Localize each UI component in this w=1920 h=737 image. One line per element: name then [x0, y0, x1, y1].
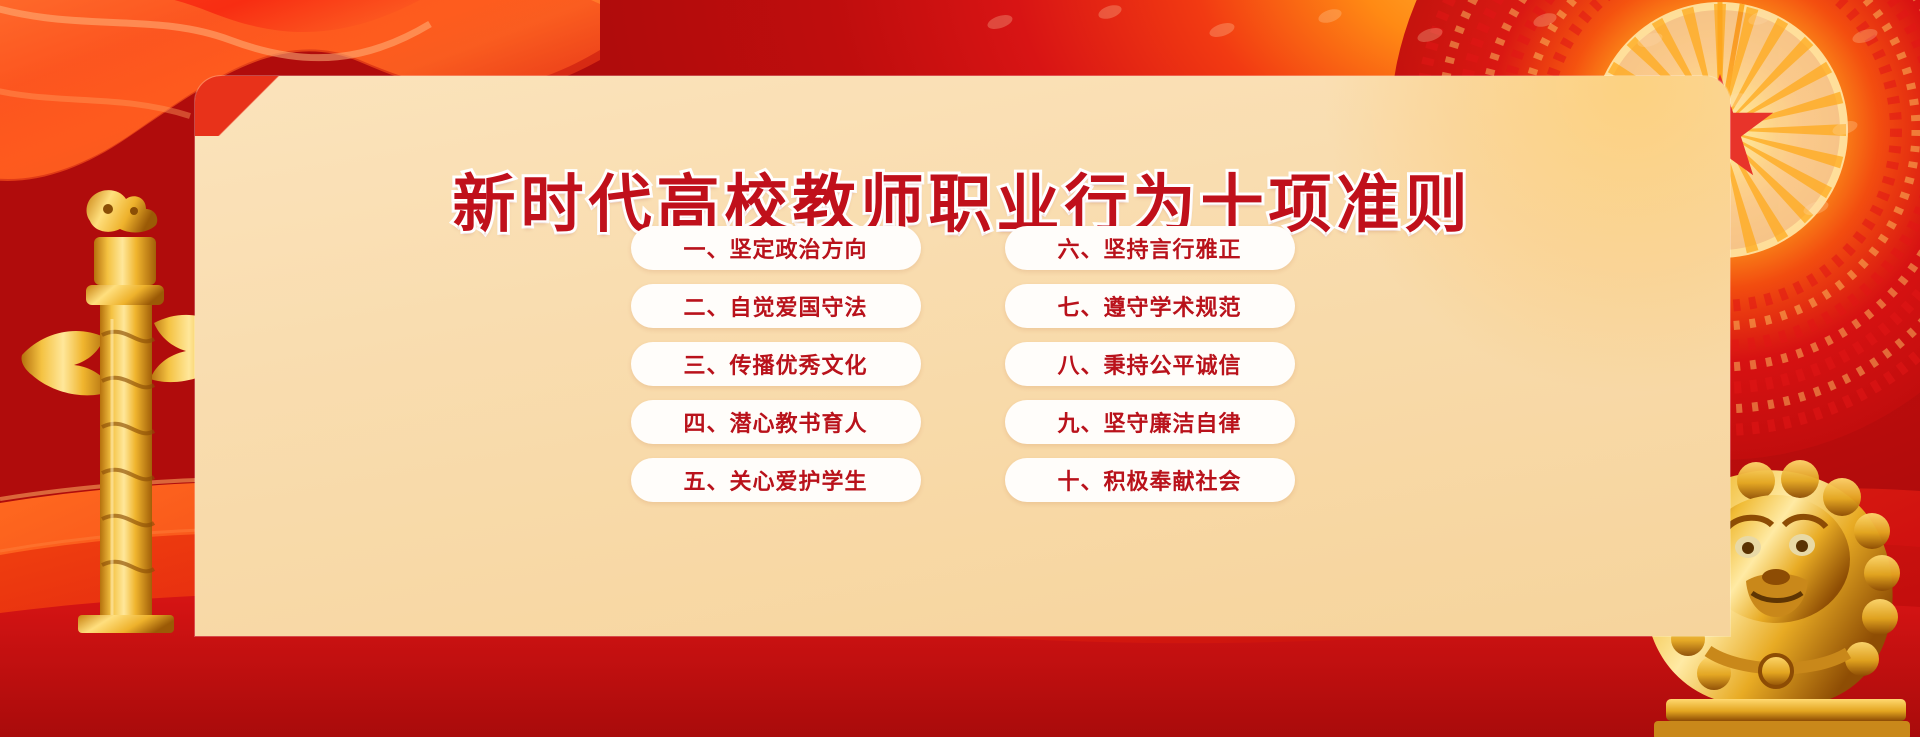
left-column: 一、坚定政治方向 二、自觉爱国守法 三、传播优秀文化 四、潜心教书育人 五、关心… — [631, 226, 921, 502]
right-column: 六、坚持言行雅正 七、遵守学术规范 八、秉持公平诚信 九、坚守廉洁自律 十、积极… — [1005, 226, 1295, 502]
principle-item-4[interactable]: 四、潜心教书育人 — [631, 400, 921, 444]
principle-item-7[interactable]: 七、遵守学术规范 — [1005, 284, 1295, 328]
principles-list: 一、坚定政治方向 二、自觉爱国守法 三、传播优秀文化 四、潜心教书育人 五、关心… — [195, 226, 1730, 502]
principle-item-9[interactable]: 九、坚守廉洁自律 — [1005, 400, 1295, 444]
principle-item-5[interactable]: 五、关心爱护学生 — [631, 458, 921, 502]
principle-item-6[interactable]: 六、坚持言行雅正 — [1005, 226, 1295, 270]
principle-item-8[interactable]: 八、秉持公平诚信 — [1005, 342, 1295, 386]
principle-item-2[interactable]: 二、自觉爱国守法 — [631, 284, 921, 328]
content-card: 新时代高校教师职业行为十项准则 一、坚定政治方向 二、自觉爱国守法 三、传播优秀… — [195, 76, 1730, 636]
principle-item-3[interactable]: 三、传播优秀文化 — [631, 342, 921, 386]
principle-item-1[interactable]: 一、坚定政治方向 — [631, 226, 921, 270]
principle-item-10[interactable]: 十、积极奉献社会 — [1005, 458, 1295, 502]
banner-canvas: 新时代高校教师职业行为十项准则 一、坚定政治方向 二、自觉爱国守法 三、传播优秀… — [0, 0, 1920, 737]
